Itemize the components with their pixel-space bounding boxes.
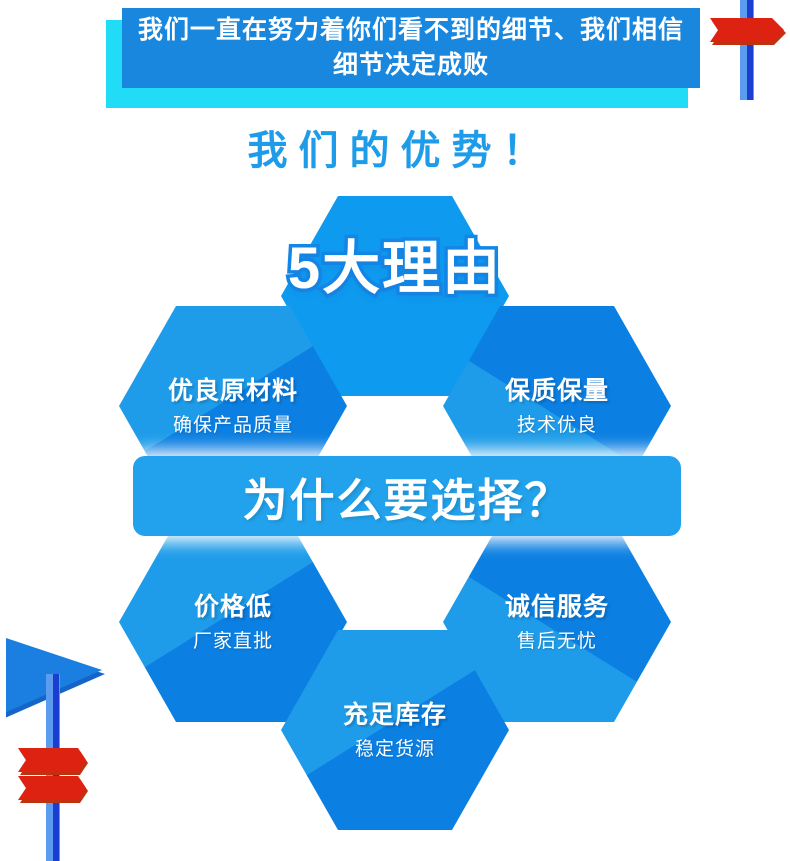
reasons-headline: 5大理由 — [0, 221, 790, 305]
hexagon-subtitle: 厂家直批 — [193, 631, 273, 654]
hexagon-title: 保质保量 — [505, 376, 609, 406]
hexagon-subtitle: 稳定货源 — [355, 739, 435, 762]
hexagon-title: 优良原材料 — [168, 376, 298, 406]
hexagon-subtitle: 售后无忧 — [517, 631, 597, 654]
hexagon-title: 价格低 — [194, 592, 272, 622]
hexagon-title: 充足库存 — [343, 700, 447, 730]
signpost-arrow-icon — [6, 596, 136, 861]
ribbon-text: 为什么要选择？ — [242, 464, 571, 529]
why-choose-ribbon: 为什么要选择？ — [133, 456, 681, 536]
hexagon-subtitle: 技术优良 — [517, 415, 597, 438]
promo-page: 我们一直在努力着你们看不到的细节、我们相信 细节决定成败 我们的优势！ 优良原材… — [0, 0, 790, 861]
hexagon-subtitle: 确保产品质量 — [173, 415, 293, 438]
hexagon-title: 诚信服务 — [505, 592, 609, 622]
